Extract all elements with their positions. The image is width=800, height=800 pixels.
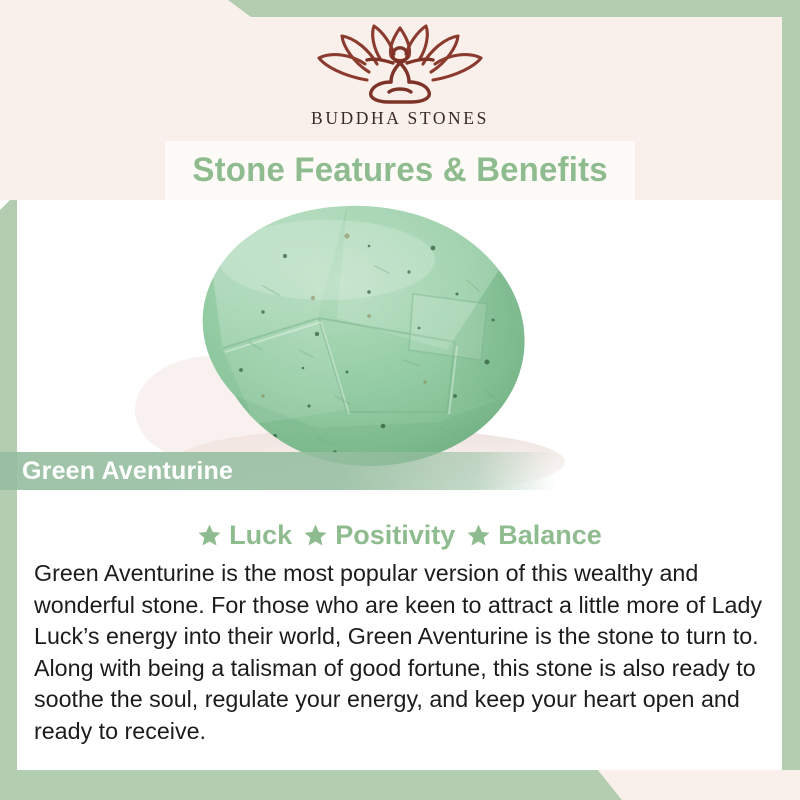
keyword-row: Luck Positivity Balance	[17, 520, 782, 551]
keyword-item-luck: Luck	[197, 520, 292, 551]
keyword-label: Balance	[498, 520, 602, 551]
star-icon	[466, 523, 491, 548]
frame-left-band	[0, 200, 17, 800]
frame-bottom-band	[0, 770, 800, 800]
brand-header: BUDDHA STONES	[0, 0, 800, 146]
brand-wordmark: BUDDHA STONES	[311, 108, 489, 129]
keyword-label: Luck	[229, 520, 292, 551]
keyword-label: Positivity	[335, 520, 455, 551]
keyword-item-positivity: Positivity	[303, 520, 455, 551]
title-banner: Stone Features & Benefits	[165, 141, 635, 200]
star-icon	[197, 523, 222, 548]
page-title: Stone Features & Benefits	[192, 151, 607, 190]
lotus-meditation-figure-icon	[305, 22, 495, 106]
poster-canvas: BUDDHA STONES Stone Features & Benefits	[0, 0, 800, 800]
description-text: Green Aventurine is the most popular ver…	[34, 558, 775, 747]
product-name-bar: Green Aventurine	[0, 452, 556, 490]
product-name-label: Green Aventurine	[22, 457, 233, 486]
star-icon	[303, 523, 328, 548]
cream-bottom-right-block	[0, 770, 800, 800]
keyword-item-balance: Balance	[466, 520, 602, 551]
